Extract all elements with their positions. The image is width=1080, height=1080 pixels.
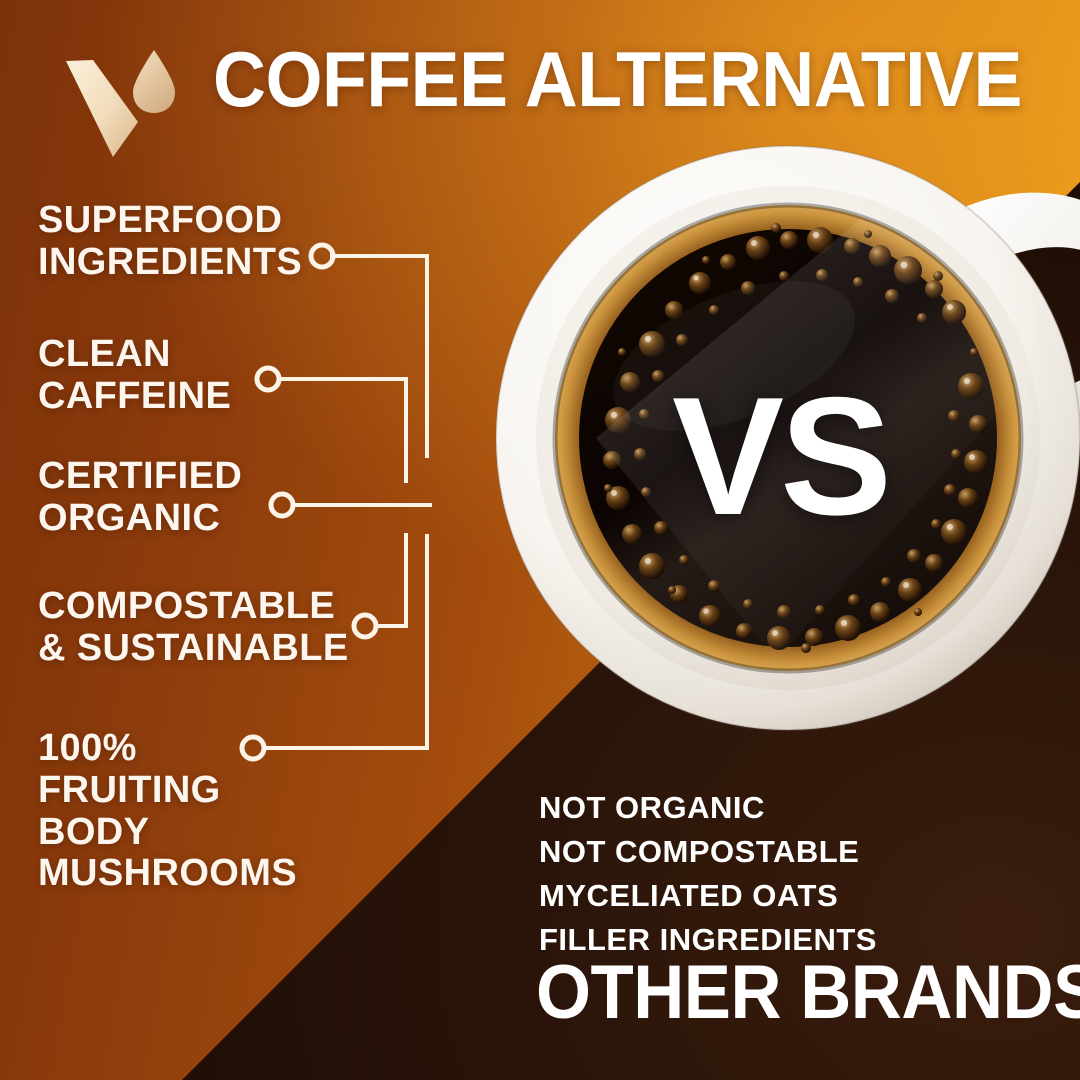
logo-v-stroke-shape: [66, 60, 138, 157]
competitor-points-list: NOT ORGANIC NOT COMPOSTABLE MYCELIATED O…: [539, 786, 877, 962]
feature-label-compostable-sustainable: COMPOSTABLE & SUSTAINABLE: [38, 586, 349, 670]
competitor-point: MYCELIATED OATS: [539, 874, 877, 918]
logo-droplet-shape: [133, 50, 175, 113]
connector-dot-certified-organic: [271, 494, 293, 516]
connector-path-certified-organic: [291, 505, 430, 507]
competitor-point: NOT ORGANIC: [539, 786, 877, 830]
infographic-canvas: COFFEE ALTERNATIVE: [0, 0, 1080, 1080]
connector-dot-compostable: [354, 615, 376, 637]
connector-dot-clean-caffeine: [257, 368, 279, 390]
vs-label: VS: [672, 372, 888, 540]
feature-label-clean-caffeine: CLEAN CAFFEINE: [38, 334, 231, 418]
connector-path-clean-caffeine: [277, 379, 406, 483]
competitor-point: NOT COMPOSTABLE: [539, 830, 877, 874]
connector-path-superfood-ingredients: [330, 256, 427, 458]
connector-path-compostable: [374, 533, 406, 626]
feature-label-fruiting-body-mushrooms: 100% FRUITING BODY MUSHROOMS: [38, 728, 297, 895]
feature-label-certified-organic: CERTIFIED ORGANIC: [38, 456, 242, 540]
feature-label-superfood-ingredients: SUPERFOOD INGREDIENTS: [38, 200, 302, 284]
connector-dot-superfood-ingredients: [311, 245, 333, 267]
brand-logo: [62, 44, 184, 162]
page-title: COFFEE ALTERNATIVE: [213, 42, 1022, 116]
competitor-heading: OTHER BRANDS: [536, 955, 1080, 1031]
